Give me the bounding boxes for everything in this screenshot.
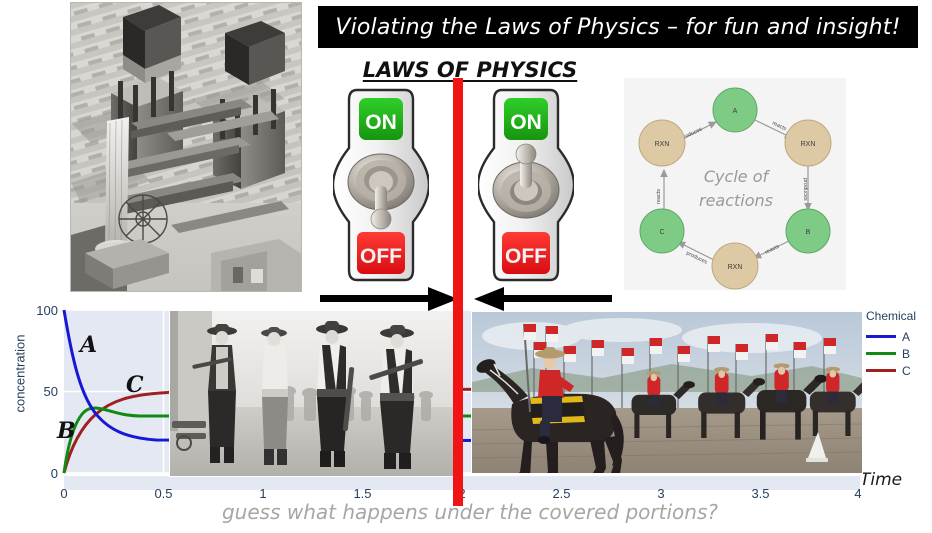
legend-title: Chemical [866, 309, 932, 323]
escher-waterfall-svg [71, 3, 302, 292]
switch-off-label: OFF [360, 245, 402, 268]
laws-of-physics-heading: LAWS OF PHYSICS [350, 58, 590, 82]
curve-annotation-a: A [78, 332, 97, 358]
legend-item-c: C [866, 362, 932, 379]
y-tick-label: 50 [44, 384, 58, 399]
x-tick-label: 3.5 [751, 486, 769, 501]
y-tick-label: 100 [36, 303, 58, 318]
switch-on-label: ON [365, 111, 397, 134]
toggle-switch-off-icon[interactable]: ON OFF [333, 86, 429, 284]
arrow-left-icon [474, 287, 504, 311]
western-gunmen-photo [169, 310, 454, 477]
cycle-center-text-line1: Cycle of [704, 167, 771, 186]
cycle-node-label-rxn: RXN [728, 264, 743, 271]
cycle-node-label-a: A [733, 108, 738, 115]
x-tick-label: 0.5 [154, 486, 172, 501]
escher-waterfall-illustration [70, 2, 302, 292]
x-tick-label: 0 [60, 486, 67, 501]
cycle-diagram-svg: reacts produces reacts produces reacts p… [624, 78, 846, 290]
red-divider-bar [453, 78, 463, 506]
chart-legend: Chemical A B C [866, 309, 932, 379]
cycle-center-text-line2: reactions [699, 191, 773, 210]
legend-label-c: C [902, 364, 911, 378]
arrow-left-shaft [494, 295, 612, 302]
legend-swatch-c [866, 369, 896, 372]
laws-of-physics-switch-right[interactable]: ON OFF [478, 86, 574, 284]
page-title: Violating the Laws of Physics – for fun … [335, 15, 900, 40]
cycle-node-label-b: B [806, 229, 811, 236]
chart-x-axis-label: Time [860, 470, 902, 490]
switch-off-label: OFF [505, 245, 547, 268]
curve-annotation-b: B [56, 418, 76, 444]
edge-label-reacts: reacts [656, 189, 662, 204]
y-tick-label: 0 [51, 466, 58, 481]
edge-label-produces: produces [802, 178, 808, 201]
arrow-right-shaft [320, 295, 438, 302]
toggle-switch-on-icon[interactable]: ON OFF [478, 86, 574, 284]
western-gunmen-photo-svg [170, 311, 453, 476]
x-tick-label: 1.5 [353, 486, 371, 501]
legend-swatch-b [866, 352, 896, 355]
cycle-node-label-rxn: RXN [801, 141, 816, 148]
x-tick-label: 3 [657, 486, 664, 501]
legend-label-a: A [902, 330, 910, 344]
chart-caption: guess what happens under the covered por… [150, 500, 790, 524]
legend-swatch-a [866, 335, 896, 338]
curve-annotation-c: C [126, 372, 144, 398]
legend-label-b: B [902, 347, 910, 361]
switch-on-label: ON [510, 111, 542, 134]
legend-item-b: B [866, 345, 932, 362]
laws-of-physics-switch-left[interactable]: ON OFF [333, 86, 429, 284]
converging-arrows [320, 283, 612, 315]
cycle-node-label-rxn: RXN [655, 141, 670, 148]
chart-y-axis-label: concentration [13, 314, 28, 434]
x-tick-label: 1 [259, 486, 266, 501]
converging-arrows-svg [320, 283, 612, 315]
mounted-police-photo-svg [472, 312, 862, 473]
legend-item-a: A [866, 328, 932, 345]
cycle-of-reactions-diagram: reacts produces reacts produces reacts p… [624, 78, 846, 290]
title-banner: Violating the Laws of Physics – for fun … [318, 6, 918, 48]
x-tick-label: 2.5 [552, 486, 570, 501]
mounted-police-photo [471, 311, 863, 474]
cycle-node-label-c: C [659, 229, 664, 236]
